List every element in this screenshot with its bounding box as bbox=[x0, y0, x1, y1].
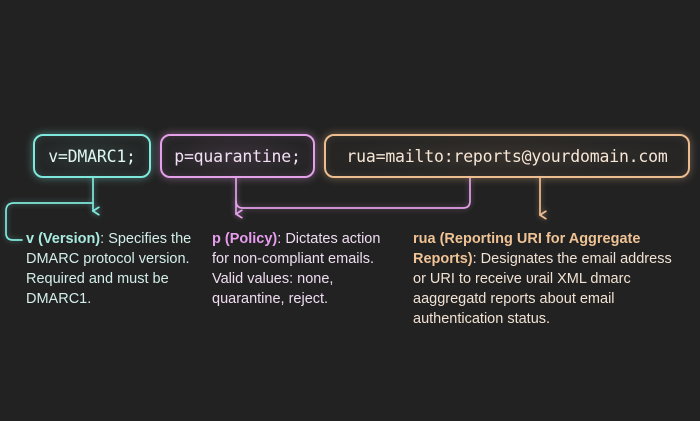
tag-box-rua[interactable]: rua=mailto:reports@yourdomain.com bbox=[324, 134, 690, 178]
tag-box-policy[interactable]: p=quarantine; bbox=[160, 134, 315, 178]
tag-box-version[interactable]: v=DMARC1; bbox=[33, 134, 151, 178]
description-rua: rua (Reporting URI for Aggregate Reports… bbox=[413, 229, 675, 329]
connector-p bbox=[236, 178, 470, 214]
description-policy: p (Policy): Dictates action for non-comp… bbox=[212, 229, 384, 309]
description-policy-label: p (Policy) bbox=[212, 231, 277, 247]
dmarc-record-diagram: v=DMARC1; p=quarantine; rua=mailto:repor… bbox=[0, 0, 700, 421]
connector-lines bbox=[0, 0, 700, 421]
description-version-label: v (Version) bbox=[26, 231, 100, 247]
description-version: v (Version): Specifies the DMARC protoco… bbox=[26, 229, 204, 309]
